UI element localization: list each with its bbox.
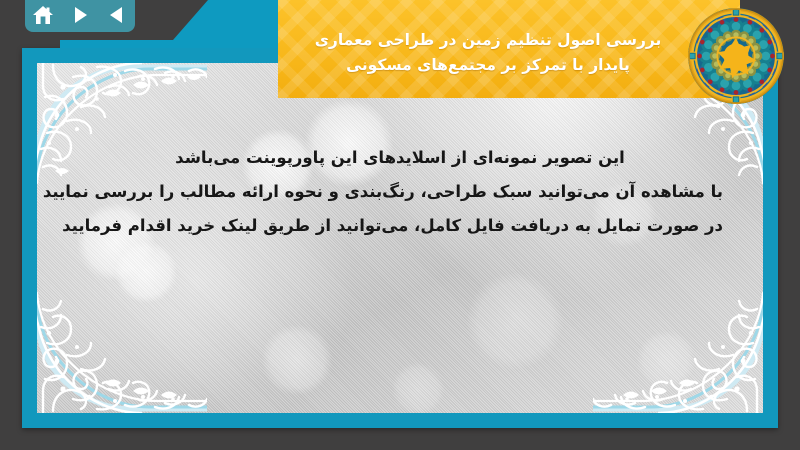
slide-text-line: این تصویر نمونه‌ای از اسلایدهای این پاور… (77, 141, 723, 175)
bokeh-circle (637, 331, 695, 389)
slide-frame: این تصویر نمونه‌ای از اسلایدهای این پاور… (22, 48, 778, 428)
bokeh-circle (262, 325, 332, 395)
slide-text-line: در صورت تمایل به دریافت فایل کامل، می‌تو… (77, 209, 723, 243)
triangle-left-icon (107, 6, 127, 24)
page-title-line-2: پایدار با تمرکز بر مجتمع‌های مسکونی (346, 53, 630, 78)
page-title-line-1: بررسی اصول تنظیم زمین در طراحی معماری (315, 28, 662, 53)
slide-text-line: با مشاهده آن می‌توانید سبک طراحی، رنگ‌بن… (77, 175, 723, 209)
persian-mandala-medallion-icon (688, 8, 784, 104)
back-button[interactable] (104, 3, 130, 27)
triangle-right-icon (70, 6, 90, 24)
bokeh-circle (392, 363, 444, 413)
forward-button[interactable] (67, 3, 93, 27)
slide-canvas: این تصویر نمونه‌ای از اسلایدهای این پاور… (0, 0, 800, 450)
bokeh-circle (467, 273, 563, 369)
arabesque-corner-ornament-icon (37, 273, 207, 413)
home-icon (32, 5, 54, 25)
slide-title-bar: بررسی اصول تنظیم زمین در طراحی معماری پا… (278, 0, 740, 98)
bokeh-circle (115, 241, 177, 303)
home-button[interactable] (30, 3, 56, 27)
navigation-button-panel (25, 0, 135, 32)
slide-content-area: این تصویر نمونه‌ای از اسلایدهای این پاور… (37, 63, 763, 413)
slide-body-text: این تصویر نمونه‌ای از اسلایدهای این پاور… (77, 141, 723, 242)
